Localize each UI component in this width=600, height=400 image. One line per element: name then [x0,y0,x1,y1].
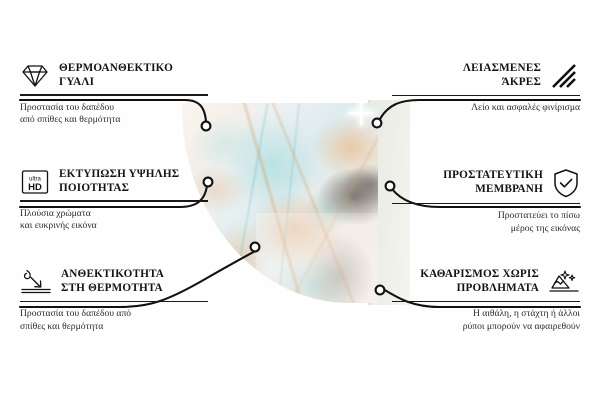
feature-divider [20,94,208,95]
shield-check-icon [552,168,580,198]
feature-description: Η αιθάλη, η στάχτη ή άλλοι ρύποι μπορούν… [392,308,580,333]
feature-description: Προστασία του δαπέδου από σπίθες και θερ… [20,308,208,333]
glass-reflection-overlay [256,213,378,303]
feature-heat-resistant-glass: ΘΕΡΜΟΑΝΘΕΚΤΙΚΟ ΓΥΑΛΙ Προστασία του δαπέδ… [20,62,208,126]
flame-deflect-icon [20,268,52,296]
feature-title: ΘΕΡΜΟΑΝΘΕΚΤΙΚΟ ΓΥΑΛΙ [59,62,173,89]
feature-header: ΠΡΟΣΤΑΤΕΥΤΙΚΗ ΜΕΜΒΡΑΝΗ [392,168,580,198]
feature-title: ΚΑΘΑΡΙΣΜΟΣ ΧΩΡΙΣ ΠΡΟΒΛΗΜΑΤΑ [420,268,539,295]
feature-high-quality-print: ultra HD ΕΚΤΥΠΩΣΗ ΥΨΗΛΗΣ ΠΟΙΟΤΗΤΑΣ Πλούσ… [20,168,208,232]
sparkle-wipe-icon [548,268,580,296]
feature-divider [392,301,580,302]
feature-description: Προστατεύει το πίσω μέρος της εικόνας [392,210,580,235]
diagonal-stripes-icon [550,62,580,90]
feature-header: ΚΑΘΑΡΙΣΜΟΣ ΧΩΡΙΣ ΠΡΟΒΛΗΜΑΤΑ [392,268,580,296]
feature-divider [20,200,208,201]
feature-protective-membrane: ΠΡΟΣΤΑΤΕΥΤΙΚΗ ΜΕΜΒΡΑΝΗ Προστατεύει το πί… [392,168,580,235]
ultra-hd-icon: ultra HD [20,169,50,195]
feature-divider [392,95,580,96]
svg-text:HD: HD [28,182,42,193]
product-image [182,100,410,312]
feature-trouble-free-cleaning: ΚΑΘΑΡΙΣΜΟΣ ΧΩΡΙΣ ΠΡΟΒΛΗΜΑΤΑ Η αιθάλη, η … [392,268,580,333]
feature-title: ΛΕΙΑΣΜΕΝΕΣ ΆΚΡΕΣ [463,62,541,89]
printed-artwork [182,103,378,303]
feature-description: Λείο και ασφαλές φινίρισμα [392,102,580,114]
feature-title: ΑΝΘΕΚΤΙΚΟΤΗΤΑ ΣΤΗ ΘΕΡΜΟΤΗΤΑ [61,268,164,295]
feature-header: ΘΕΡΜΟΑΝΘΕΚΤΙΚΟ ΓΥΑΛΙ [20,62,208,89]
feature-description: Προστασία του δαπέδου από σπίθες και θερ… [20,102,208,127]
feature-divider [20,301,208,302]
feature-heat-durability: ΑΝΘΕΚΤΙΚΟΤΗΤΑ ΣΤΗ ΘΕΡΜΟΤΗΤΑ Προστασία το… [20,268,208,333]
infographic-canvas: ΘΕΡΜΟΑΝΘΕΚΤΙΚΟ ΓΥΑΛΙ Προστασία του δαπέδ… [0,0,600,400]
feature-header: ΛΕΙΑΣΜΕΝΕΣ ΆΚΡΕΣ [392,62,580,90]
feature-description: Πλούσια χρώματα και ευκρινής εικόνα [20,208,208,233]
feature-title: ΠΡΟΣΤΑΤΕΥΤΙΚΗ ΜΕΜΒΡΑΝΗ [443,169,543,196]
feature-divider [392,203,580,204]
feature-header: ultra HD ΕΚΤΥΠΩΣΗ ΥΨΗΛΗΣ ΠΟΙΟΤΗΤΑΣ [20,168,208,195]
feature-title: ΕΚΤΥΠΩΣΗ ΥΨΗΛΗΣ ΠΟΙΟΤΗΤΑΣ [59,168,179,195]
feature-polished-edges: ΛΕΙΑΣΜΕΝΕΣ ΆΚΡΕΣ Λείο και ασφαλές φινίρι… [392,62,580,115]
feature-header: ΑΝΘΕΚΤΙΚΟΤΗΤΑ ΣΤΗ ΘΕΡΜΟΤΗΤΑ [20,268,208,296]
glass-sparkle-icon [349,101,373,125]
diamond-icon [20,63,50,89]
